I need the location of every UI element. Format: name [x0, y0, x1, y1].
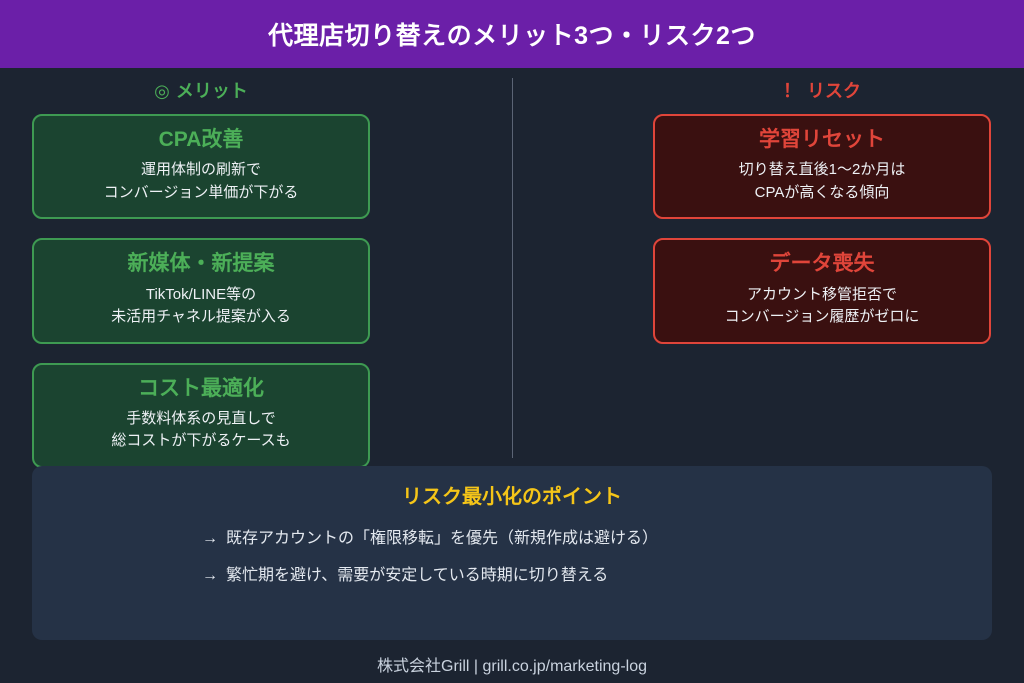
merit-card-description-line: 未活用チャネル提案が入る [44, 306, 358, 329]
merit-card-description-line: 総コストが下がるケースも [44, 430, 358, 453]
panel-list: →既存アカウントの「権限移転」を優先（新規作成は避ける） →繁忙期を避け、需要が… [202, 527, 822, 588]
merit-card-description-line: コンバージョン単価が下がる [44, 182, 358, 205]
page-header: 代理店切り替えのメリット3つ・リスク2つ [0, 0, 1024, 68]
risk-card-title: 学習リセット [665, 127, 979, 153]
risk-card-description-line: CPAが高くなる傾向 [665, 182, 979, 205]
risk-card-description-line: アカウント移管拒否で [665, 284, 979, 307]
list-item-text: 繁忙期を避け、需要が安定している時期に切り替える [226, 567, 608, 584]
panel-title: リスク最小化のポイント [52, 480, 972, 509]
merit-card-title: コスト最適化 [44, 376, 358, 402]
risk-card-title: データ喪失 [665, 251, 979, 277]
merit-card: 新媒体・新提案 TikTok/LINE等の 未活用チャネル提案が入る [32, 238, 370, 343]
list-item: →繁忙期を避け、需要が安定している時期に切り替える [202, 564, 822, 588]
risk-card-description-line: コンバージョン履歴がゼロに [665, 306, 979, 329]
list-item-text: 既存アカウントの「権限移転」を優先（新規作成は避ける） [226, 530, 658, 547]
merit-card-title: CPA改善 [44, 127, 358, 153]
merit-card-description: 手数料体系の見直しで 総コストが下がるケースも [44, 408, 358, 453]
page-title: 代理店切り替えのメリット3つ・リスク2つ [268, 16, 756, 52]
risk-card-description: アカウント移管拒否で コンバージョン履歴がゼロに [665, 284, 979, 329]
risk-card: データ喪失 アカウント移管拒否で コンバージョン履歴がゼロに [653, 238, 991, 343]
merit-column: ◎メリット CPA改善 運用体制の刷新で コンバージョン単価が下がる 新媒体・新… [32, 68, 370, 487]
risk-heading-label: リスク [807, 81, 861, 101]
arrow-right-icon: → [202, 567, 218, 584]
exclamation-icon: ！ [783, 81, 801, 101]
merit-card: コスト最適化 手数料体系の見直しで 総コストが下がるケースも [32, 363, 370, 468]
merit-card: CPA改善 運用体制の刷新で コンバージョン単価が下がる [32, 114, 370, 219]
comparison-columns: ◎メリット CPA改善 運用体制の刷新で コンバージョン単価が下がる 新媒体・新… [0, 68, 1024, 458]
risk-card-description-line: 切り替え直後1〜2か月は [665, 159, 979, 182]
footer-credit: 株式会社Grill | grill.co.jp/marketing-log [377, 652, 647, 676]
risk-card: 学習リセット 切り替え直後1〜2か月は CPAが高くなる傾向 [653, 114, 991, 219]
merit-column-heading: ◎メリット [32, 76, 370, 106]
risk-column-heading: ！リスク [653, 76, 991, 106]
merit-card-description-line: 手数料体系の見直しで [44, 408, 358, 431]
risk-mitigation-panel: リスク最小化のポイント →既存アカウントの「権限移転」を優先（新規作成は避ける）… [32, 466, 992, 640]
page-footer: 株式会社Grill | grill.co.jp/marketing-log [0, 645, 1024, 683]
risk-card-description: 切り替え直後1〜2か月は CPAが高くなる傾向 [665, 159, 979, 204]
merit-card-description-line: 運用体制の刷新で [44, 159, 358, 182]
arrow-right-icon: → [202, 530, 218, 547]
merit-card-description: 運用体制の刷新で コンバージョン単価が下がる [44, 159, 358, 204]
double-circle-icon: ◎ [154, 81, 170, 101]
risk-column: ！リスク 学習リセット 切り替え直後1〜2か月は CPAが高くなる傾向 データ喪… [653, 68, 991, 363]
merit-card-title: 新媒体・新提案 [44, 251, 358, 277]
merit-heading-label: メリット [176, 81, 248, 101]
column-divider [512, 78, 513, 458]
merit-card-description: TikTok/LINE等の 未活用チャネル提案が入る [44, 284, 358, 329]
list-item: →既存アカウントの「権限移転」を優先（新規作成は避ける） [202, 527, 822, 551]
merit-card-description-line: TikTok/LINE等の [44, 284, 358, 307]
